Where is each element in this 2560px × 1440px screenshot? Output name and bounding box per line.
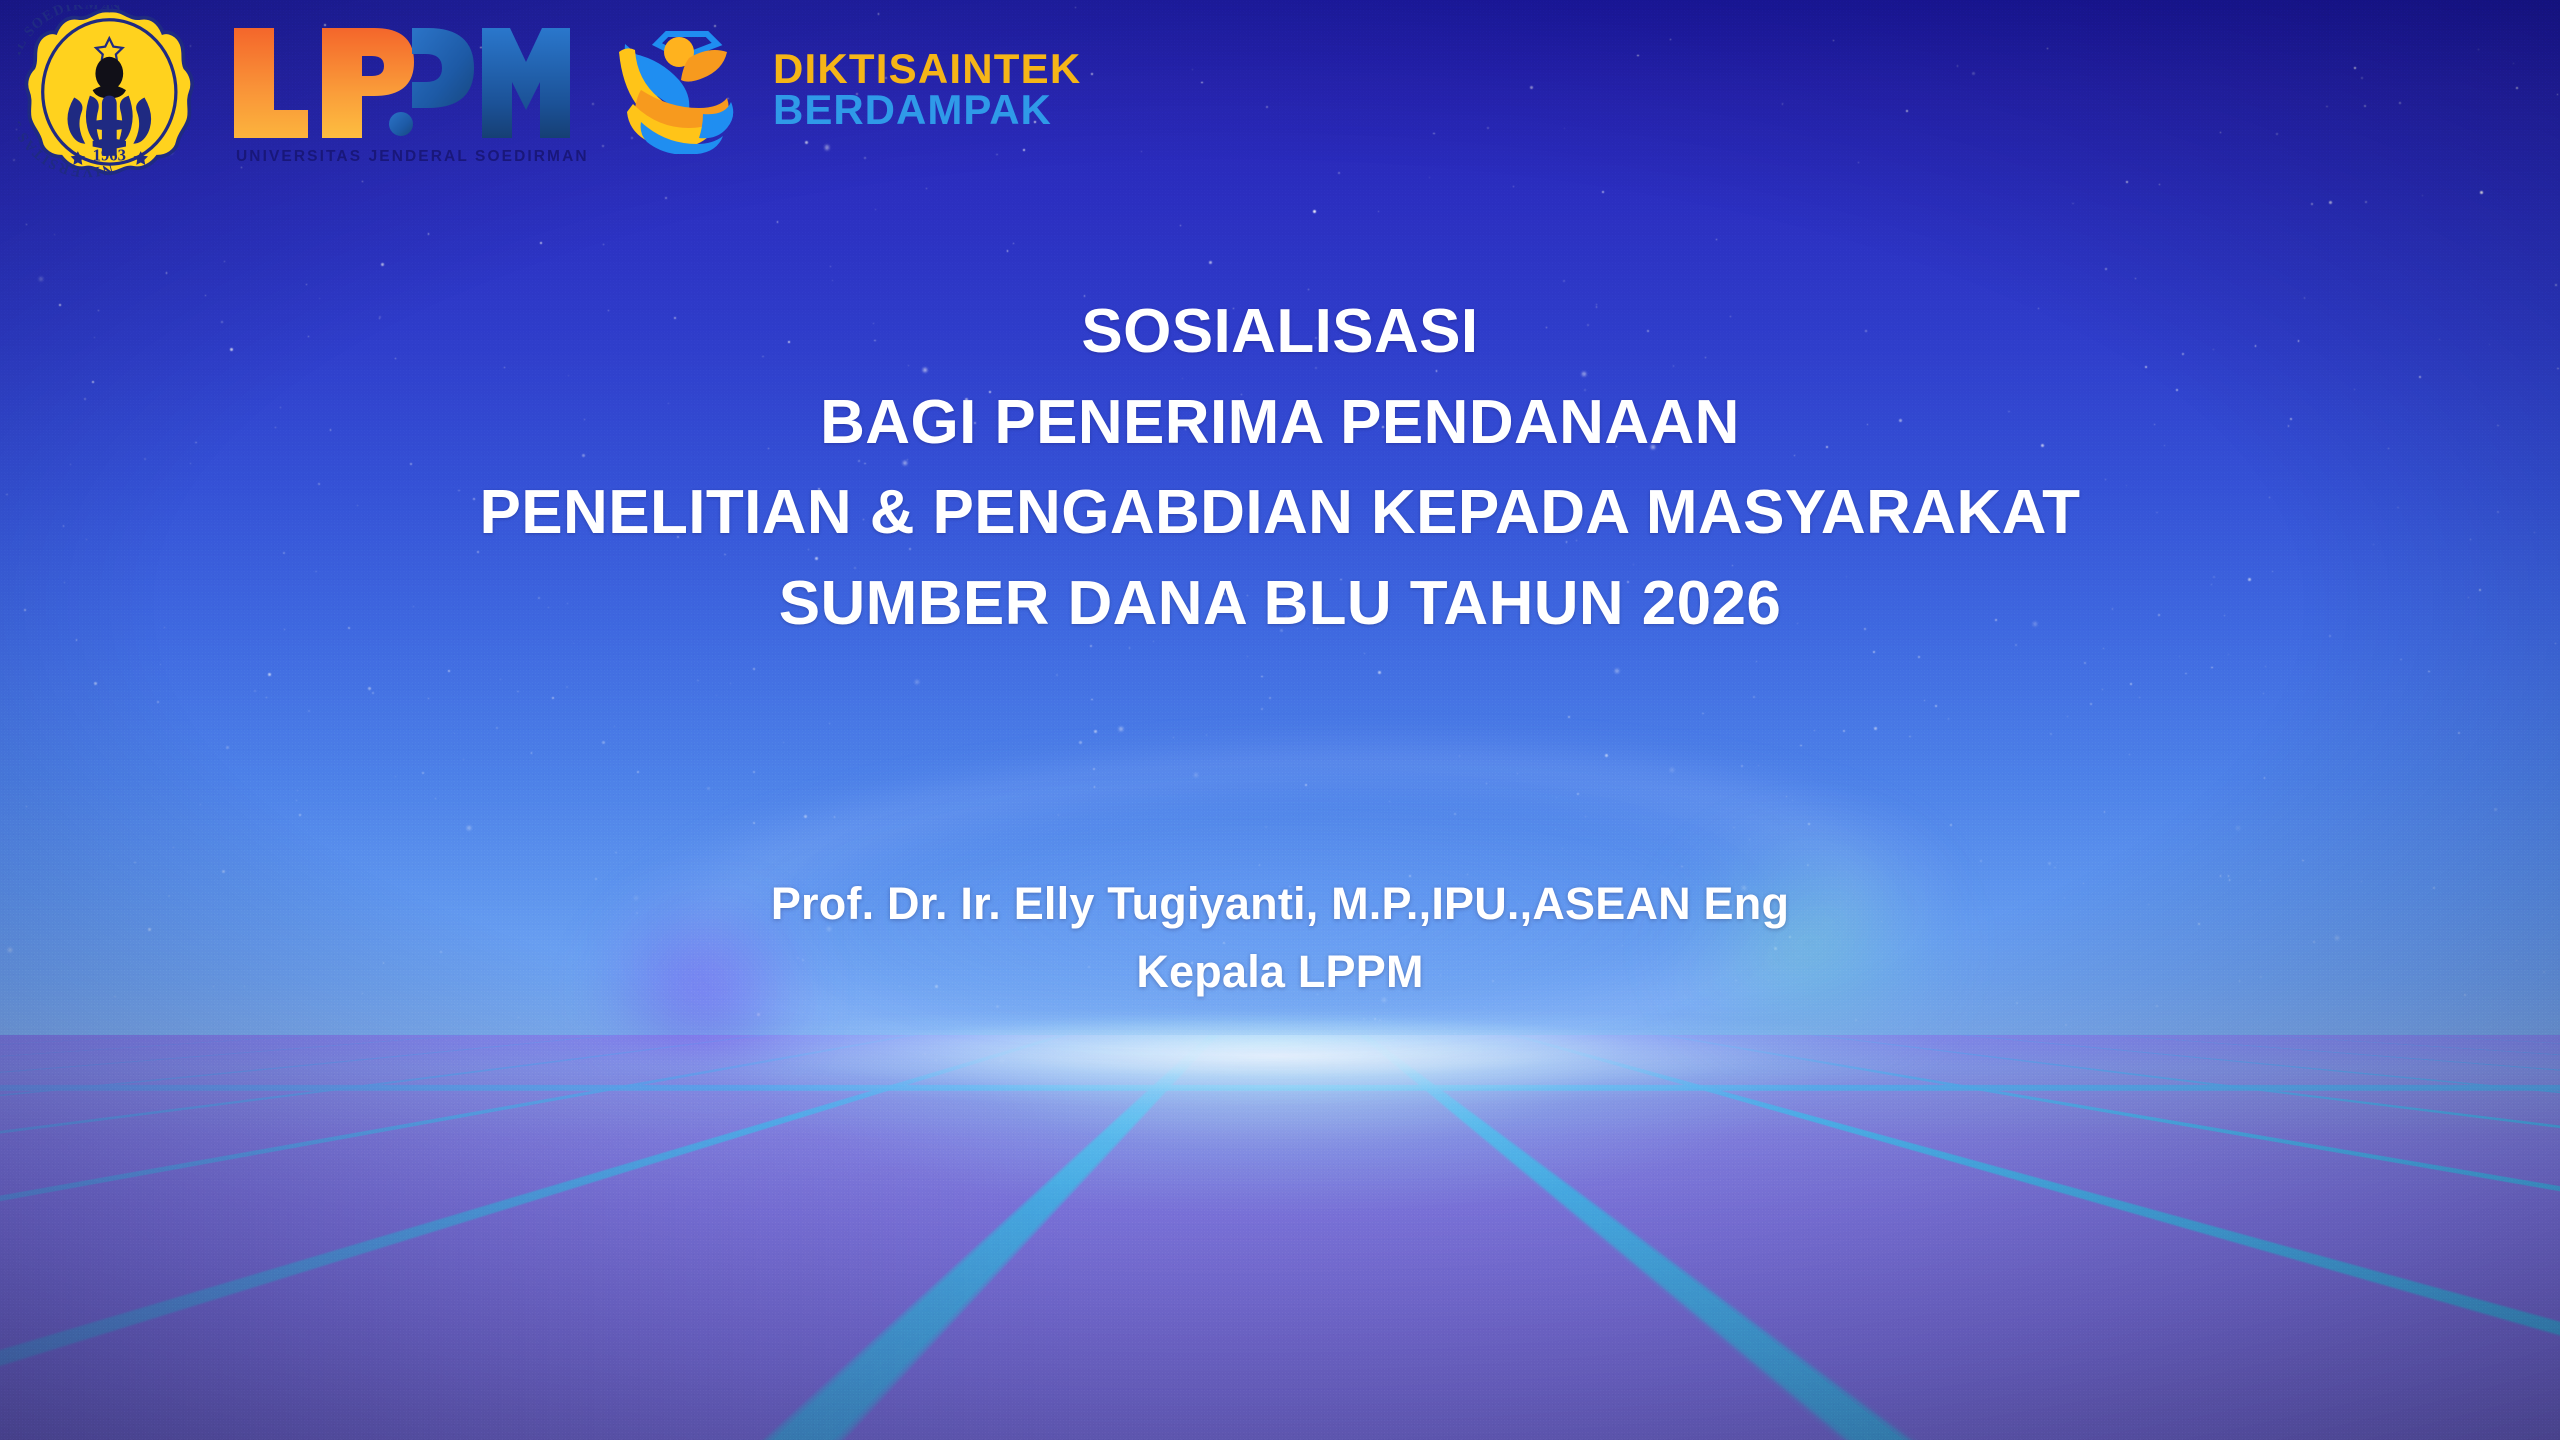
seal-year-text: 1963 <box>93 145 126 164</box>
diktisaintek-wordmark: DIKTISAINTEK BERDAMPAK <box>773 42 1081 130</box>
presenter-name: Prof. Dr. Ir. Elly Tugiyanti, M.P.,IPU.,… <box>0 870 2560 938</box>
lppm-subtitle: UNIVERSITAS JENDERAL SOEDIRMAN <box>236 148 576 166</box>
title-line-1: SOSIALISASI <box>0 287 2560 378</box>
title-line-4: SUMBER DANA BLU TAHUN 2026 <box>0 559 2560 650</box>
diktisaintek-line2: BERDAMPAK <box>773 89 1081 130</box>
unsoed-seal-icon: UNIVERSITAS JENDERAL SOEDIRMAN 1 <box>18 5 208 190</box>
grid-distance-fade <box>0 1035 2560 1440</box>
grid-left-shadow <box>0 1035 1075 1440</box>
slide-title: SOSIALISASI BAGI PENERIMA PENDANAAN PENE… <box>0 287 2560 649</box>
title-slide: UNIVERSITAS JENDERAL SOEDIRMAN 1 <box>0 0 2560 1440</box>
logo-diktisaintek: DIKTISAINTEK BERDAMPAK <box>611 18 1081 154</box>
logo-lppm: UNIVERSITAS JENDERAL SOEDIRMAN <box>226 20 581 180</box>
perspective-grid-floor <box>0 1035 2560 1440</box>
film-grain <box>0 0 2560 1440</box>
title-line-3: PENELITIAN & PENGABDIAN KEPADA MASYARAKA… <box>0 468 2560 559</box>
presenter-role: Kepala LPPM <box>0 938 2560 1006</box>
vignette <box>0 0 2560 1440</box>
horizon-glow <box>0 995 2560 1105</box>
presenter-credits: Prof. Dr. Ir. Elly Tugiyanti, M.P.,IPU.,… <box>0 870 2560 1007</box>
title-line-2: BAGI PENERIMA PENDANAAN <box>0 378 2560 469</box>
diktisaintek-line1: DIKTISAINTEK <box>773 48 1081 89</box>
logo-row: UNIVERSITAS JENDERAL SOEDIRMAN 1 <box>0 0 2560 200</box>
logo-unsoed-seal: UNIVERSITAS JENDERAL SOEDIRMAN 1 <box>0 0 208 195</box>
diktisaintek-figure-icon <box>611 18 759 154</box>
